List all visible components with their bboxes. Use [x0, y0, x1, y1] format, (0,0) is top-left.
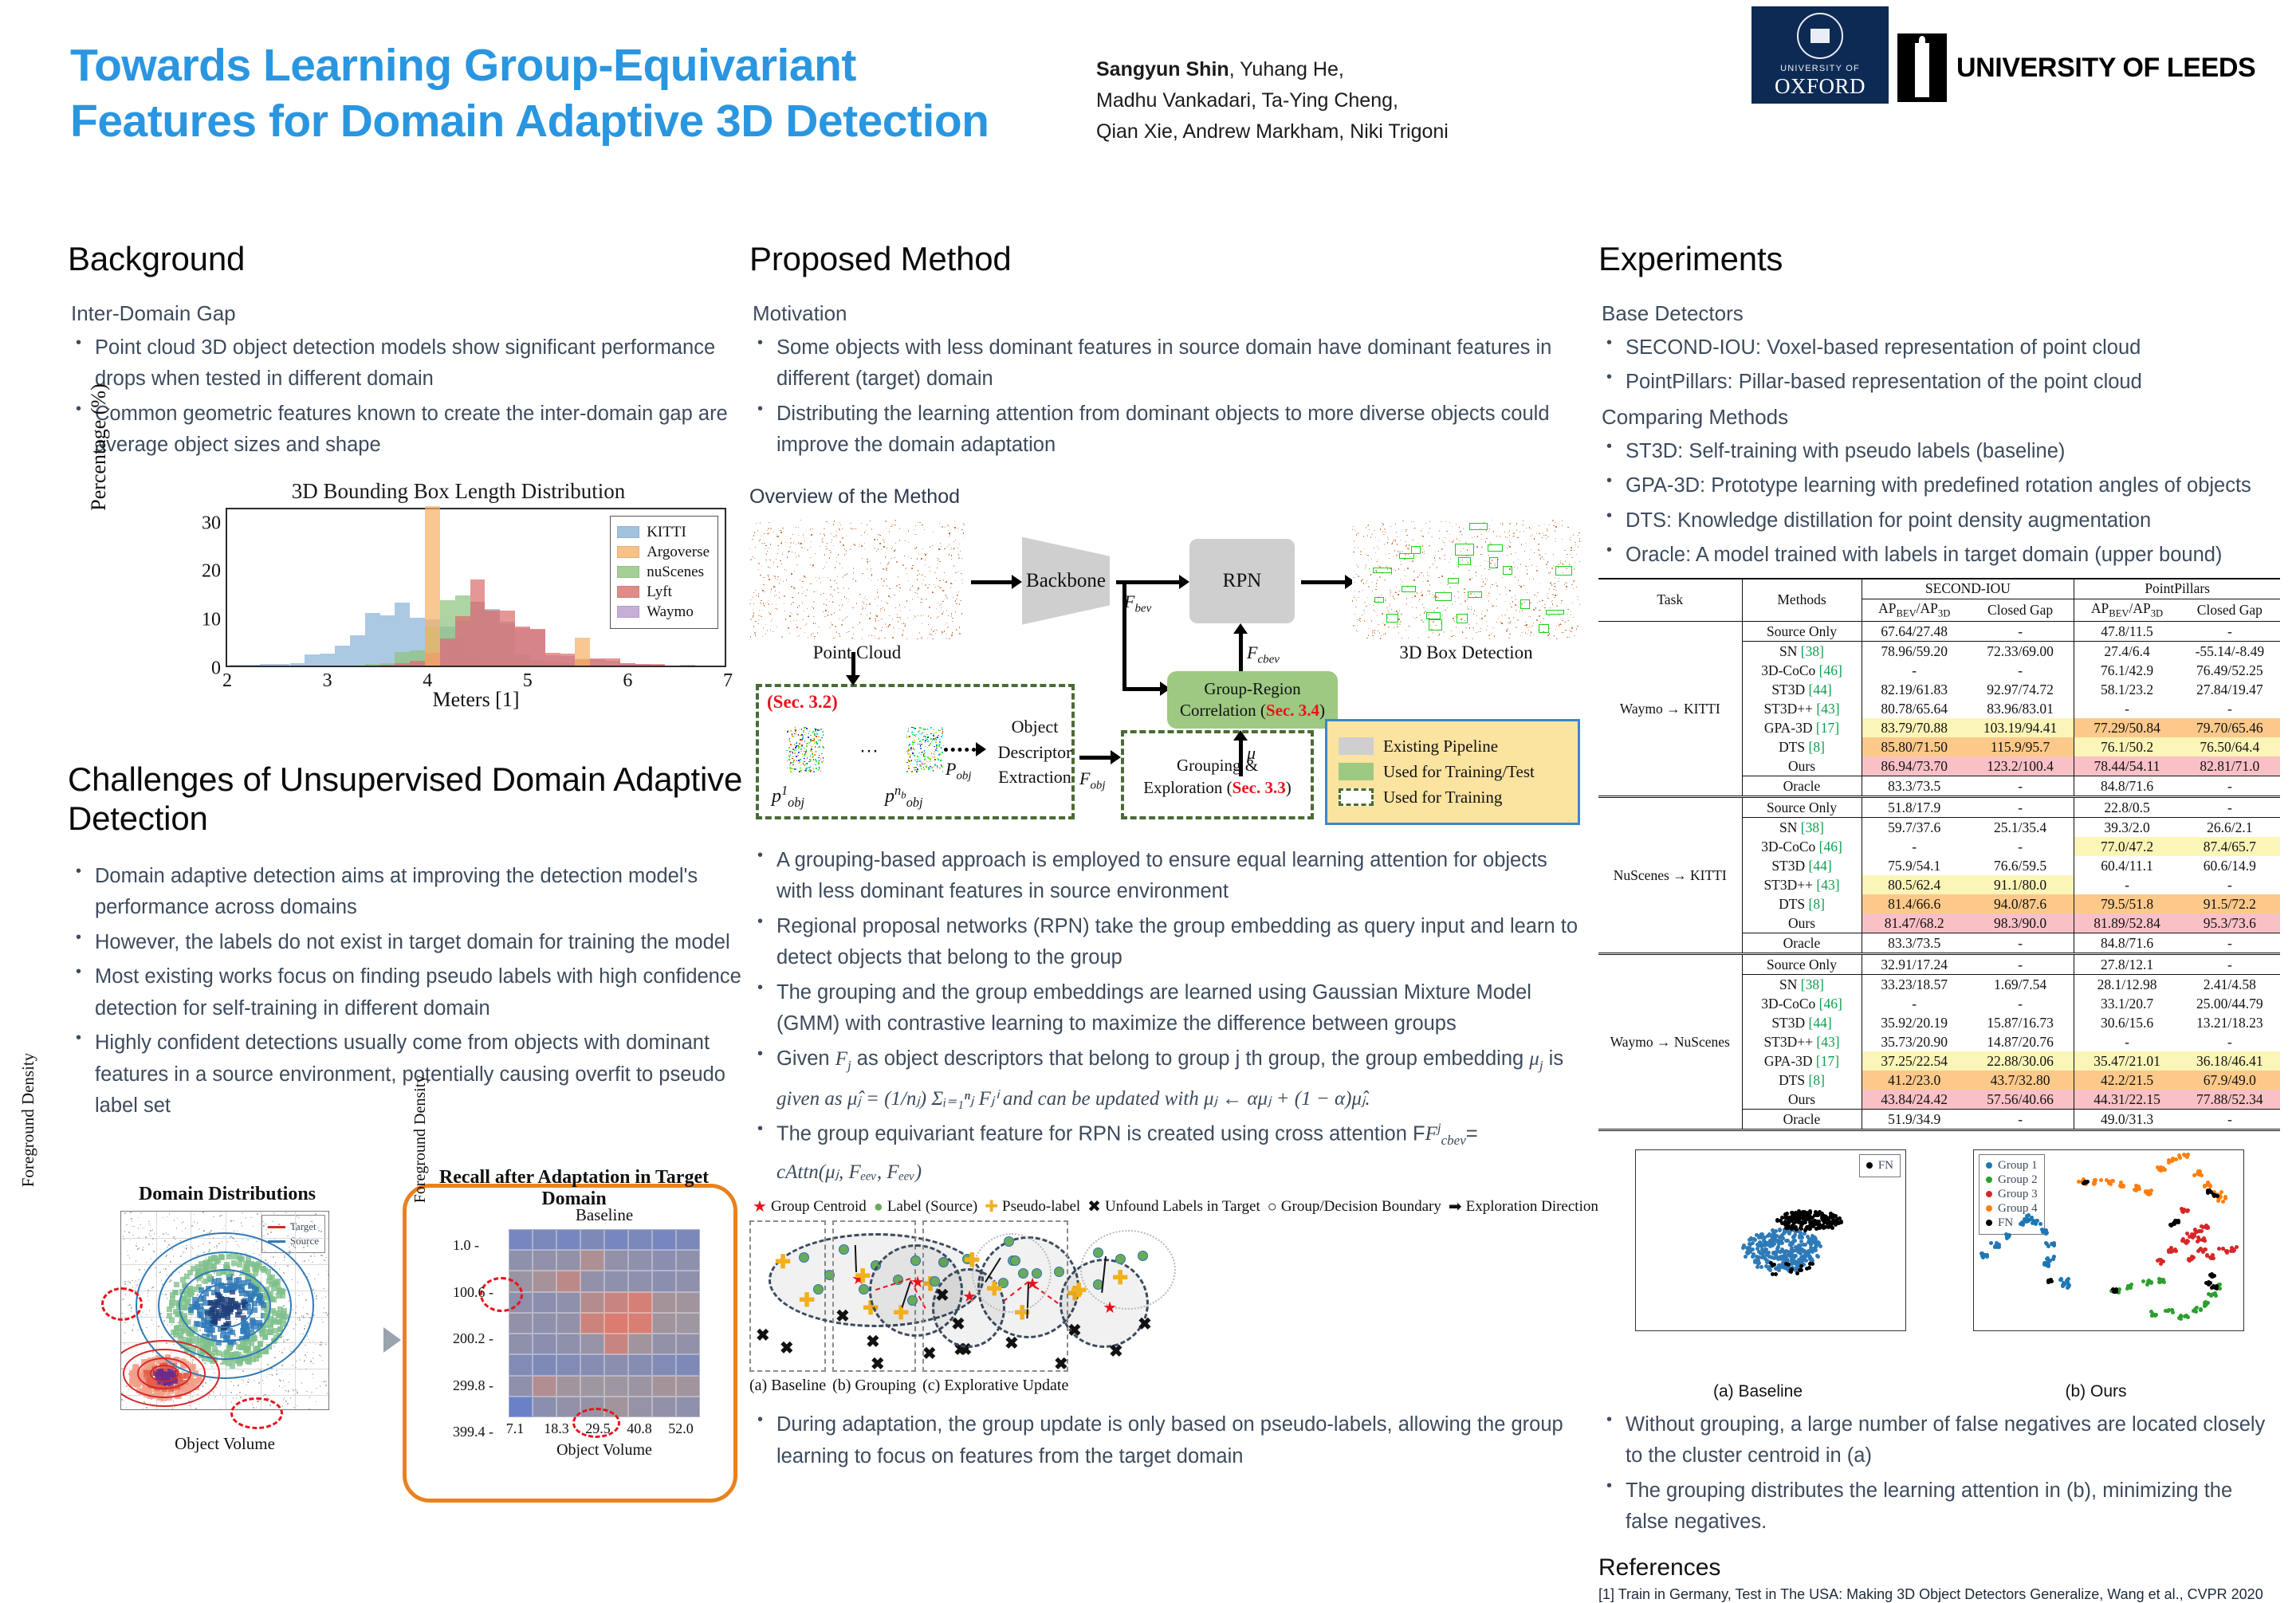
lidar-point [944, 572, 945, 573]
lidar-point [1454, 595, 1455, 596]
legend-label: Unfound Labels in Target [1105, 1198, 1260, 1216]
lidar-point [946, 595, 946, 595]
object-point [811, 748, 812, 750]
heatmap-cell [676, 1271, 700, 1291]
legend-swatch [617, 566, 639, 578]
value-cell: 27.84/19.47 [2180, 680, 2280, 699]
lidar-point [798, 527, 799, 528]
lidar-point [886, 528, 887, 528]
scatter-point [209, 1393, 210, 1395]
lidar-point [1372, 591, 1373, 591]
lidar-point [883, 607, 883, 608]
lidar-point [912, 585, 913, 586]
scatter-point [154, 1233, 155, 1235]
value-cell: 35.92/20.19 [1862, 1013, 1967, 1032]
lidar-point [831, 551, 832, 552]
scatter-point [314, 1279, 316, 1280]
object-point [908, 753, 910, 755]
lidar-point [1429, 567, 1430, 568]
lidar-point [755, 621, 756, 622]
lidar-point [1362, 615, 1362, 615]
lidar-point [925, 564, 926, 565]
scatter-point [246, 1385, 248, 1386]
lidar-point [1575, 544, 1576, 545]
arrow-right-icon [383, 1327, 401, 1353]
scatter-point [269, 1374, 270, 1376]
lidar-point [1394, 550, 1395, 551]
lidar-point [924, 529, 925, 530]
unfound-label-icon: ✖ [1067, 1322, 1082, 1339]
object-point [790, 730, 792, 732]
lidar-point [1569, 637, 1570, 638]
lidar-point [791, 586, 792, 587]
object-point [795, 731, 796, 733]
lidar-point [784, 569, 785, 570]
lidar-point [814, 638, 815, 639]
lidar-point [934, 584, 934, 585]
scatter-point [183, 1221, 185, 1223]
lidar-point [885, 521, 886, 521]
lidar-point [773, 631, 773, 632]
lidar-point [868, 635, 869, 636]
lidar-point [1415, 619, 1416, 619]
scatter-point [320, 1231, 322, 1232]
lidar-point [1492, 606, 1492, 607]
lidar-point [952, 632, 953, 633]
lidar-point [1557, 595, 1558, 595]
lidar-point [765, 624, 766, 625]
method-cell: ST3D [44] [1742, 680, 1862, 699]
lidar-point [1476, 546, 1477, 547]
rpn-block: RPN [1189, 539, 1295, 623]
lidar-point [948, 615, 949, 616]
lidar-point [1400, 561, 1401, 562]
scatter-point [265, 1224, 266, 1225]
object-point [810, 771, 812, 772]
object-point [939, 730, 941, 732]
lidar-point [1472, 627, 1473, 628]
lidar-point [764, 533, 765, 534]
value-cell: 95.3/73.6 [2180, 913, 2280, 933]
object-point [941, 736, 942, 737]
lidar-point [1574, 581, 1575, 582]
lidar-point [1512, 601, 1513, 602]
histogram-bar [575, 638, 590, 666]
detection-box [1426, 612, 1441, 619]
figure-recall-heatmap: Recall after Adaptation in Target Domain… [403, 1184, 737, 1503]
lidar-point [1488, 592, 1489, 593]
histogram-bar [425, 506, 440, 666]
lidar-point [863, 603, 864, 604]
object-point [792, 756, 794, 758]
lidar-point [1408, 638, 1409, 638]
value-cell: 72.33/69.00 [1967, 642, 2074, 662]
scatter-point [325, 1257, 327, 1259]
value-cell: 82.81/71.0 [2180, 756, 2280, 776]
lidar-point [791, 573, 792, 574]
detection-box [1429, 619, 1442, 631]
rpn-label: RPN [1223, 570, 1262, 592]
lidar-point [1389, 593, 1390, 594]
object-point [816, 733, 818, 735]
lidar-point [805, 595, 806, 596]
scatter-point [1750, 1237, 1754, 1241]
lidar-point [761, 588, 762, 589]
lidar-point [1366, 580, 1367, 581]
lidar-point [1571, 550, 1571, 551]
object-point [813, 768, 815, 769]
lidar-point [1375, 589, 1376, 590]
lidar-point [894, 595, 894, 595]
scatter-point [321, 1298, 323, 1299]
lidar-point [1428, 532, 1429, 533]
scatter-point [1810, 1250, 1814, 1254]
heatmap-cell [676, 1250, 700, 1271]
lidar-point [890, 597, 891, 598]
lidar-point [859, 544, 859, 544]
lidar-point [764, 605, 765, 606]
lidar-point [749, 548, 750, 549]
scatter-point [273, 1212, 275, 1214]
lidar-point [1370, 574, 1371, 575]
lidar-point [867, 534, 868, 535]
lidar-point [1488, 595, 1488, 596]
lidar-point [1481, 618, 1482, 619]
lidar-point [1384, 528, 1385, 529]
lidar-point [794, 541, 795, 542]
heatmap-cell [652, 1354, 676, 1375]
scatter-point [124, 1212, 126, 1214]
lidar-point [1578, 599, 1578, 600]
lidar-point [1574, 568, 1575, 569]
scatter-point [313, 1363, 314, 1365]
lidar-point [765, 548, 765, 549]
heatmap-cell [652, 1292, 676, 1313]
lidar-point [1356, 564, 1357, 565]
lidar-point [1468, 608, 1468, 609]
lidar-point [936, 578, 937, 579]
lidar-point [763, 627, 764, 628]
lidar-point [910, 558, 911, 559]
lidar-point [1394, 611, 1395, 612]
lidar-point [1571, 631, 1571, 632]
lidar-point [1553, 589, 1554, 590]
lidar-point [1487, 609, 1488, 610]
object-point [918, 760, 919, 762]
lidar-point [792, 552, 792, 552]
object-point [813, 738, 815, 740]
object-point [939, 753, 941, 755]
scatter-point [142, 1249, 143, 1251]
heatmap-cell [509, 1313, 533, 1334]
scatter-point [1759, 1265, 1763, 1269]
object-point [800, 746, 802, 748]
lidar-point [947, 623, 948, 623]
x-axis-tick: 29.5 [585, 1420, 611, 1437]
lidar-point [878, 548, 879, 549]
lidar-point [1563, 618, 1563, 619]
lidar-point [953, 548, 954, 549]
dotted-arrow-icon [944, 748, 976, 752]
lidar-point [951, 613, 952, 614]
lidar-point [1577, 626, 1578, 627]
lidar-point [811, 541, 812, 542]
lidar-point [753, 597, 753, 598]
lidar-point [1486, 621, 1487, 622]
lidar-point [1362, 580, 1362, 580]
pseudo-label-icon: ✚ [986, 1283, 1001, 1297]
scatter-point [230, 1381, 232, 1383]
method-cell: Source Only [1742, 797, 1862, 818]
object-point [810, 756, 812, 757]
lidar-point [931, 629, 932, 630]
lidar-point [1547, 528, 1547, 529]
lidar-point [1354, 591, 1355, 591]
lidar-point [1538, 549, 1539, 550]
line-fbev-down [1122, 580, 1126, 690]
lidar-point [1380, 528, 1381, 529]
lidar-point [883, 546, 884, 547]
lidar-point [804, 537, 804, 538]
lidar-point [1507, 610, 1508, 611]
lidar-point [880, 563, 881, 564]
task-cell: Waymo → KITTI [1598, 622, 1742, 797]
lidar-point [1531, 549, 1531, 550]
lidar-point [1468, 624, 1469, 625]
scatter-point [148, 1221, 150, 1223]
annotation-circle-density [101, 1287, 143, 1321]
lidar-point [1386, 607, 1387, 608]
lidar-point [1413, 572, 1414, 572]
lidar-point [926, 599, 926, 599]
lidar-point [1459, 540, 1460, 541]
object-point [801, 745, 803, 746]
value-cell: 25.1/35.4 [1967, 818, 2074, 838]
lidar-point [754, 632, 755, 633]
lidar-point [1407, 568, 1408, 568]
scatter-point [309, 1342, 311, 1343]
detection-box [1555, 566, 1571, 576]
object-point [792, 752, 793, 753]
lidar-point [1422, 545, 1423, 546]
lidar-point [810, 528, 811, 529]
lidar-point [758, 593, 759, 594]
heatmap-cell [604, 1313, 628, 1334]
lidar-point [951, 635, 952, 635]
lidar-point [1473, 614, 1474, 615]
object-point [933, 729, 934, 731]
lidar-point [758, 563, 759, 564]
lidar-point [1447, 607, 1448, 608]
lidar-point [1382, 531, 1383, 532]
lidar-point [1381, 635, 1382, 636]
lidar-point [961, 558, 962, 559]
lidar-point [1570, 554, 1571, 555]
lidar-point [1507, 537, 1508, 538]
value-cell: 32.91/17.24 [1862, 954, 1967, 975]
lidar-point [1368, 586, 1369, 587]
value-cell: 51.9/34.9 [1862, 1110, 1967, 1130]
object-point [924, 752, 926, 754]
lidar-point [1536, 596, 1537, 597]
lidar-point [1468, 570, 1469, 571]
lidar-point [945, 624, 946, 625]
lidar-point [899, 540, 900, 540]
heatmap-cell [628, 1376, 652, 1397]
object-point [818, 740, 820, 741]
lidar-point [1429, 528, 1430, 528]
object-point [804, 727, 805, 729]
lidar-point [1458, 597, 1459, 598]
subheading-inter-domain-gap: Inter-Domain Gap [71, 301, 749, 326]
value-cell: 81.89/52.84 [2074, 913, 2180, 933]
scatter-point [1768, 1244, 1772, 1248]
lidar-point [823, 611, 824, 612]
lidar-point [834, 612, 835, 613]
lidar-point [758, 569, 759, 570]
list-item: However, the labels do not exist in targ… [68, 927, 749, 959]
scatter-point [164, 1240, 166, 1242]
value-cell: 33.23/18.57 [1862, 975, 1967, 995]
lidar-point [886, 579, 887, 580]
legend-item: ✖Unfound Labels in Target [1087, 1198, 1260, 1216]
lidar-point [1564, 622, 1565, 623]
lidar-point [1457, 584, 1458, 585]
lidar-point [1408, 548, 1409, 549]
scatter-point [127, 1251, 128, 1252]
lidar-point [1365, 568, 1366, 569]
lidar-point [839, 522, 840, 523]
lidar-point [1562, 632, 1563, 633]
lidar-point [844, 575, 845, 576]
lidar-point [1523, 531, 1524, 532]
lidar-point [1384, 544, 1385, 544]
lidar-point [1463, 528, 1464, 528]
heatmap-cell [533, 1334, 556, 1354]
lidar-point [1452, 603, 1453, 604]
lidar-point [1553, 565, 1554, 566]
lidar-point [1575, 580, 1575, 580]
value-cell: 76.6/59.5 [1967, 856, 2074, 875]
object-point [914, 734, 915, 736]
lidar-point [1482, 611, 1483, 611]
lidar-point [835, 626, 835, 627]
lidar-point [942, 634, 942, 635]
lidar-point [1536, 619, 1537, 620]
lidar-point [1406, 531, 1406, 532]
lidar-point [1527, 573, 1527, 574]
lidar-point [788, 552, 788, 552]
lidar-point [906, 600, 907, 601]
lidar-point [1413, 521, 1414, 522]
lidar-point [760, 603, 761, 603]
lidar-point [839, 605, 839, 606]
lidar-point [1399, 610, 1400, 611]
lidar-point [932, 627, 933, 628]
lidar-point [1449, 541, 1450, 542]
scatter-point [289, 1247, 290, 1248]
scatter-point [222, 1215, 224, 1216]
heatmap-cell [580, 1334, 604, 1354]
object-point [804, 748, 805, 749]
lidar-point [775, 578, 776, 579]
scatter-point [320, 1344, 321, 1346]
lidar-point [770, 591, 771, 592]
lidar-point [1395, 540, 1396, 541]
lidar-point [894, 520, 895, 521]
object-point [922, 762, 923, 764]
lidar-point [801, 601, 802, 602]
object-point [925, 741, 926, 743]
object-point [800, 759, 801, 760]
lidar-point [1357, 619, 1358, 620]
scatter-point [1791, 1235, 1795, 1239]
lidar-point [874, 635, 875, 636]
object-point [815, 746, 816, 748]
lidar-point [1433, 611, 1434, 611]
legend-swatch [1339, 763, 1374, 780]
lidar-point [779, 591, 780, 592]
lidar-point [839, 633, 839, 634]
object-point [823, 747, 824, 748]
lidar-point [824, 567, 825, 568]
lidar-point [1571, 557, 1572, 558]
scatter-point [287, 1236, 289, 1237]
value-cell: 81.47/68.2 [1862, 913, 1967, 933]
list-item-formula: Given Fj as object descriptors that belo… [749, 1043, 1586, 1115]
scatter-point [271, 1374, 273, 1376]
scatter-point [318, 1274, 320, 1275]
value-cell: 79.70/65.46 [2180, 718, 2280, 737]
legend-label: FN [1998, 1216, 2013, 1230]
cattn-formula: cAttn(μⱼ, Fₑₑᵥ, Fₑₑᵥ) [776, 1157, 1586, 1188]
heatmap-cell [628, 1250, 652, 1271]
histogram-bar [380, 665, 395, 666]
lidar-point [959, 603, 960, 604]
object-point [823, 760, 824, 762]
lidar-point [1390, 591, 1391, 592]
lidar-point [1386, 554, 1386, 555]
lidar-point [778, 545, 779, 546]
lidar-point [855, 528, 856, 529]
scatter-point [1798, 1236, 1802, 1240]
lidar-point [1417, 576, 1418, 577]
list-item: SECOND-IOU: Voxel-based representation o… [1598, 332, 2280, 364]
lidar-point [794, 571, 795, 572]
lidar-point [1474, 536, 1475, 537]
lidar-point [895, 549, 896, 550]
lidar-point [903, 631, 904, 631]
scatter-point [231, 1401, 233, 1403]
object-point [821, 753, 823, 755]
lidar-point [1390, 603, 1390, 604]
value-cell: - [1967, 994, 2074, 1013]
lidar-point [1562, 525, 1563, 526]
chart-plot-area: TargetSource 501001502002503003504001015… [120, 1211, 329, 1410]
scatter-point [284, 1397, 285, 1399]
lidar-point [1564, 550, 1565, 551]
lidar-point [777, 553, 778, 554]
object-point [788, 756, 790, 757]
lidar-point [1559, 625, 1559, 626]
lidar-point [1400, 540, 1401, 540]
scatter-point [291, 1223, 293, 1224]
lidar-point [861, 545, 862, 546]
scatter-point [1985, 1255, 1989, 1259]
lidar-point [1566, 589, 1567, 590]
value-cell: 77.88/52.34 [2180, 1090, 2280, 1110]
scatter-point [309, 1339, 310, 1341]
